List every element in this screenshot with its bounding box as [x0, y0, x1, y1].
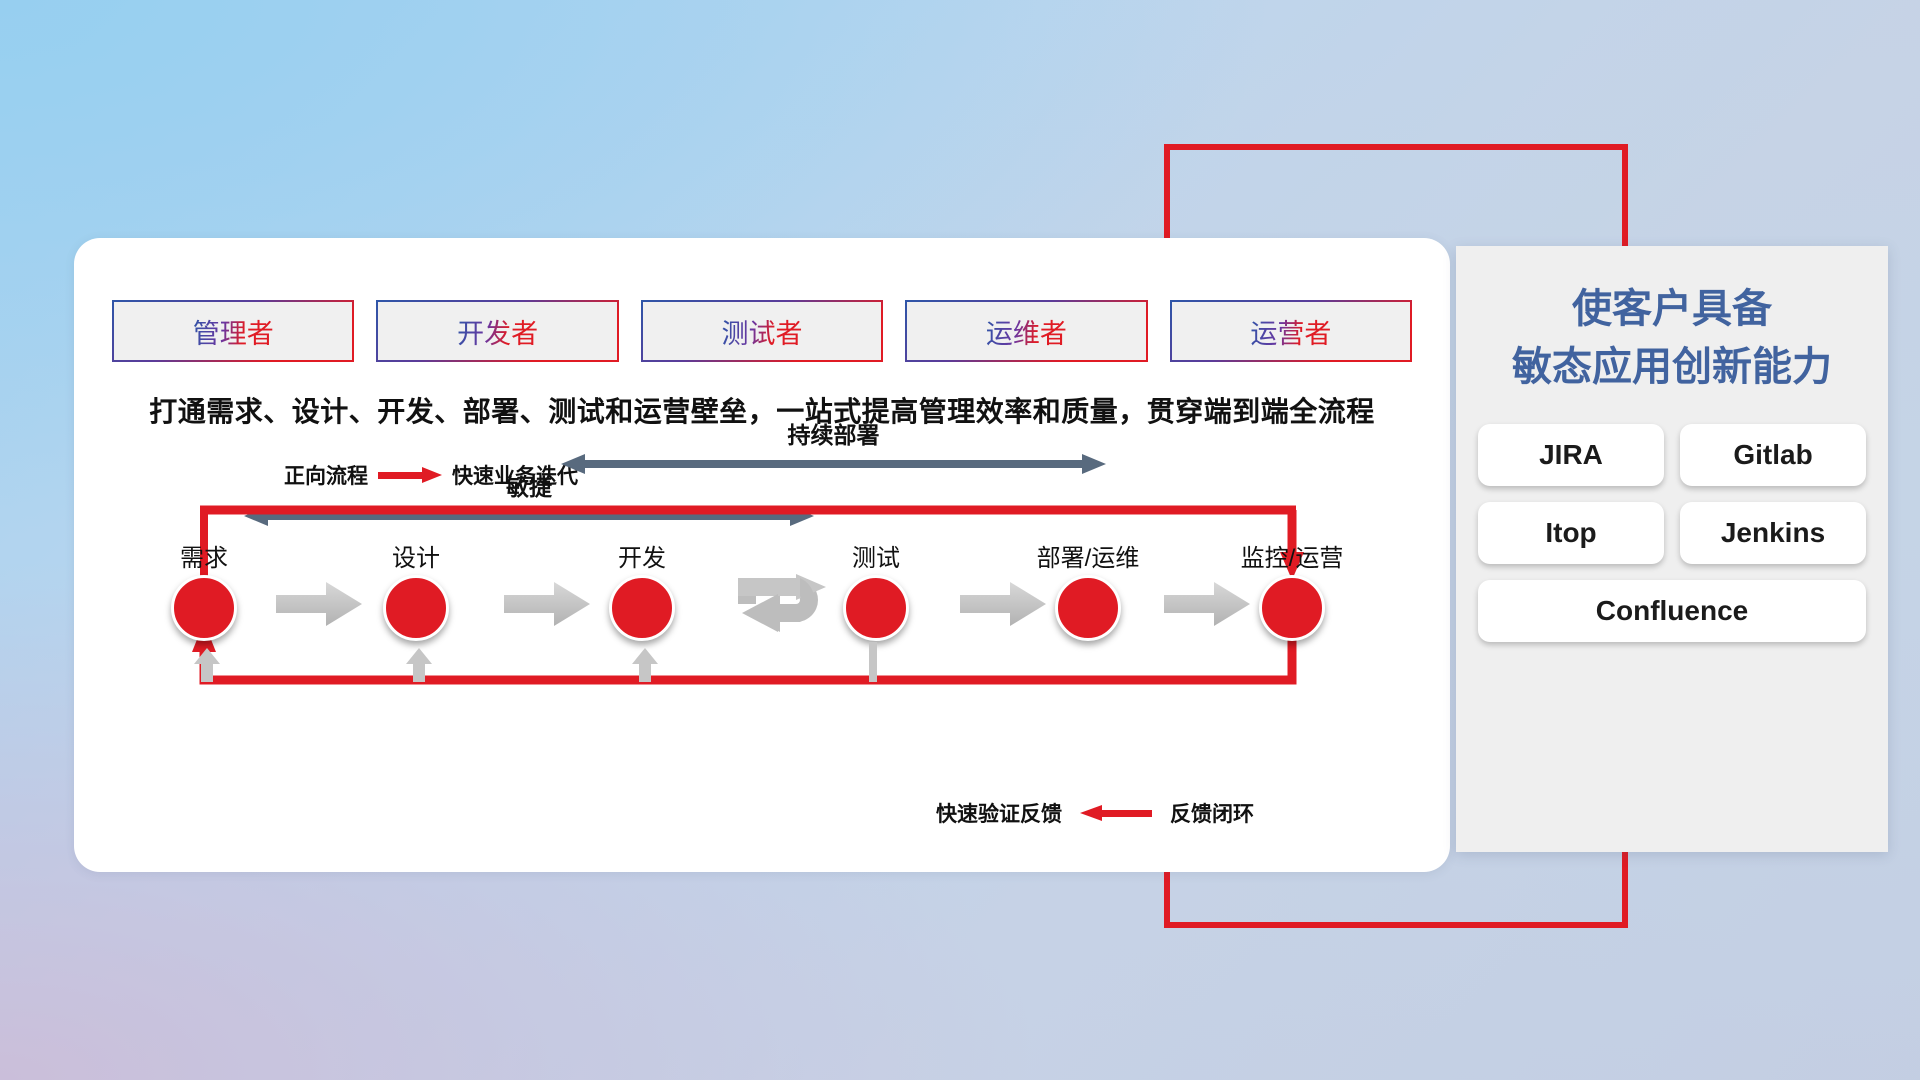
stage-dot — [1259, 575, 1325, 641]
role-box-row: 管理者 开发者 测试者 运维者 运营者 — [112, 300, 1412, 362]
role-label: 开发者 — [457, 312, 538, 351]
legend-feedback-left-label: 快速验证反馈 — [936, 798, 1062, 828]
flow-arrow-icon — [1164, 582, 1250, 626]
value-panel: 使客户具备 敏态应用创新能力 JIRA Gitlab Itop Jenkins … — [1456, 246, 1888, 852]
flow-arrow-icon — [276, 582, 362, 626]
role-box-manager[interactable]: 管理者 — [112, 300, 354, 362]
pipeline-row: 需求 设计 开发 测试 部署/运维 监控/运营 — [160, 538, 1410, 678]
feeder-line-icon — [866, 642, 880, 682]
tool-button-itop[interactable]: Itop — [1478, 502, 1664, 564]
tool-button-grid: JIRA Gitlab Itop Jenkins Confluence — [1478, 424, 1866, 642]
stage-dot — [383, 575, 449, 641]
tool-button-jenkins[interactable]: Jenkins — [1680, 502, 1866, 564]
pipeline-stage-monitor-operations[interactable]: 监控/运营 — [1232, 538, 1352, 641]
legend-feedback-right-label: 反馈闭环 — [1170, 798, 1254, 828]
arrow-left-red-icon — [1080, 805, 1152, 821]
pipeline-stage-development[interactable]: 开发 — [582, 538, 702, 641]
panel-title-line2: 敏态应用创新能力 — [1456, 338, 1888, 396]
loop-back-arrow-icon — [734, 570, 842, 638]
panel-title: 使客户具备 敏态应用创新能力 — [1456, 280, 1888, 396]
role-label: 测试者 — [722, 312, 803, 351]
role-box-developer[interactable]: 开发者 — [376, 300, 618, 362]
role-label: 运营者 — [1250, 312, 1331, 351]
stage-dot — [1055, 575, 1121, 641]
stage-dot — [843, 575, 909, 641]
feeder-arrow-icon — [194, 648, 220, 682]
panel-title-line1: 使客户具备 — [1456, 280, 1888, 338]
stage-label: 设计 — [356, 538, 476, 573]
span-label: 持续部署 — [561, 416, 1106, 450]
feeder-arrow-icon — [632, 648, 658, 682]
pipeline-stage-design[interactable]: 设计 — [356, 538, 476, 641]
role-box-tester[interactable]: 测试者 — [641, 300, 883, 362]
stage-dot — [609, 575, 675, 641]
stage-label: 部署/运维 — [1028, 538, 1148, 573]
span-label: 敏捷 — [244, 468, 814, 502]
role-label: 运维者 — [986, 312, 1067, 351]
tool-button-jira[interactable]: JIRA — [1478, 424, 1664, 486]
stage-label: 开发 — [582, 538, 702, 573]
double-arrow-icon — [244, 506, 814, 526]
legend-feedback-loop: 快速验证反馈 反馈闭环 — [936, 798, 1254, 828]
tool-button-gitlab[interactable]: Gitlab — [1680, 424, 1866, 486]
stage-label: 测试 — [816, 538, 936, 573]
span-continuous-deployment: 持续部署 — [561, 416, 1106, 474]
flow-arrow-icon — [960, 582, 1046, 626]
span-agile: 敏捷 — [244, 468, 814, 526]
role-box-ops[interactable]: 运维者 — [905, 300, 1147, 362]
feeder-arrow-icon — [406, 648, 432, 682]
main-diagram-card: 管理者 开发者 测试者 运维者 运营者 打通需求、设计、开发、部署、测试和运营壁… — [74, 238, 1450, 872]
stage-label: 监控/运营 — [1232, 538, 1352, 573]
tool-button-confluence[interactable]: Confluence — [1478, 580, 1866, 642]
role-box-operations[interactable]: 运营者 — [1170, 300, 1412, 362]
role-label: 管理者 — [193, 312, 274, 351]
flow-arrow-icon — [504, 582, 590, 626]
stage-label: 需求 — [144, 538, 264, 573]
pipeline-stage-deploy-ops[interactable]: 部署/运维 — [1028, 538, 1148, 641]
stage-dot — [171, 575, 237, 641]
pipeline-stage-requirements[interactable]: 需求 — [144, 538, 264, 641]
